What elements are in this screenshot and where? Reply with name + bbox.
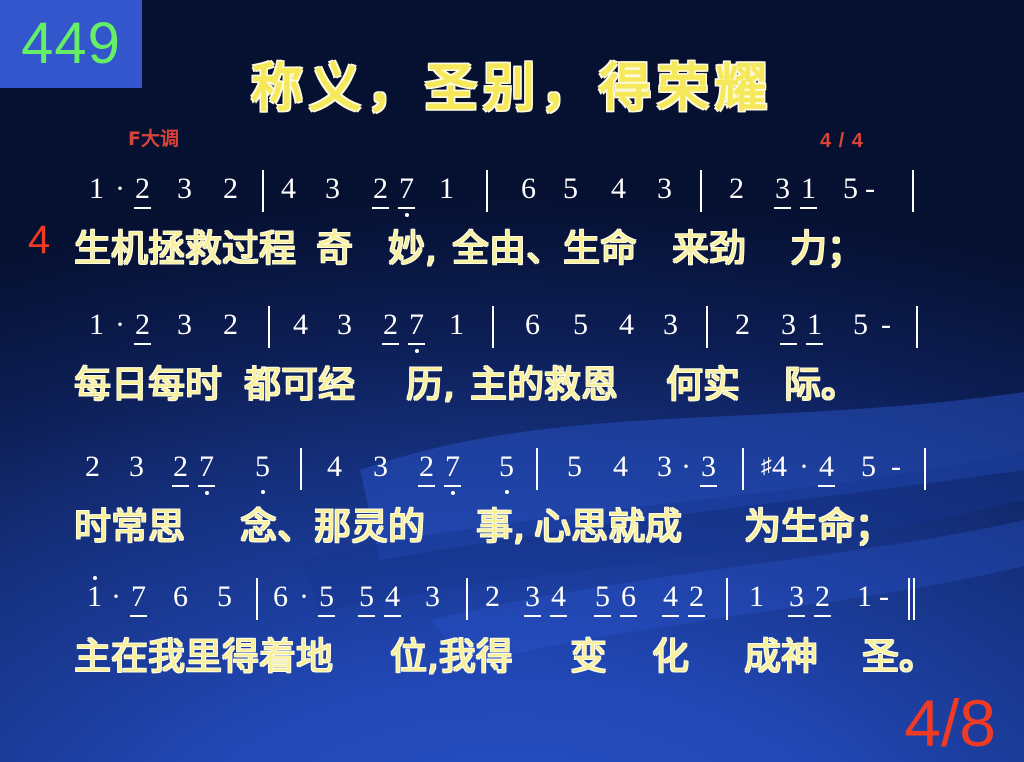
octave-high-dot	[93, 576, 97, 580]
note-token: ·	[298, 580, 310, 614]
note-token: 3	[774, 172, 791, 209]
note-token: 2	[84, 450, 101, 484]
lyric-token: 历,	[406, 354, 455, 408]
note-token: 4	[612, 450, 629, 484]
note-token: 3	[176, 308, 193, 342]
note-token: 1	[86, 580, 103, 614]
lyric-token: 生机拯救过程	[74, 218, 296, 272]
note-token: 5	[254, 450, 271, 484]
note-token: 6	[524, 308, 541, 342]
lyric-token: 力；	[790, 218, 864, 272]
note-token: 6	[520, 172, 537, 206]
note-token: 5	[572, 308, 589, 342]
note-token: 7	[398, 172, 415, 209]
note-token: 3	[424, 580, 441, 614]
lyric-token: 都可经	[244, 354, 355, 408]
note-token: 2	[172, 450, 189, 487]
barline	[924, 448, 926, 490]
note-token: 4	[618, 308, 635, 342]
octave-low-dot	[415, 349, 419, 353]
note-token: 2	[134, 308, 151, 345]
lyric-token: 成神	[744, 626, 818, 680]
note-token: 3	[700, 450, 717, 487]
barline	[536, 448, 538, 490]
note-token: 4	[550, 580, 567, 617]
note-token: ♯4	[760, 450, 788, 484]
barline	[916, 306, 918, 348]
lyric-token: 圣。	[862, 626, 936, 680]
octave-low-dot	[505, 490, 509, 494]
note-token: 7	[444, 450, 461, 487]
lyric-token: 主在我里得着地	[74, 626, 333, 680]
barline	[912, 170, 914, 212]
stanza-4-lyrics: 主在我里得着地位,我得变化成神圣。	[0, 626, 1024, 680]
note-token: -	[864, 172, 876, 206]
barline	[492, 306, 494, 348]
note-token: 5	[860, 450, 877, 484]
stanza-2: 1·2324327165432315-每日每时都可经历,主的救恩何实际。	[0, 308, 1024, 408]
note-token: ·	[114, 308, 126, 342]
note-token: 1	[438, 172, 455, 206]
stanza-3-lyrics: 时常思念、那灵的事,心思就成为生命；	[0, 496, 1024, 550]
note-token: 1	[748, 580, 765, 614]
stanza-4-notation: 1·7656·554323456421321-	[0, 580, 1024, 626]
octave-low-dot	[451, 491, 455, 495]
barline	[706, 306, 708, 348]
note-token: ·	[110, 580, 122, 614]
octave-low-dot	[405, 213, 409, 217]
note-token: 3	[656, 450, 673, 484]
lyric-token: 来劲	[672, 218, 746, 272]
note-token: 7	[130, 580, 147, 617]
note-token: ·	[798, 450, 810, 484]
note-token: 5	[216, 580, 233, 614]
lyric-token: 何实	[666, 354, 740, 408]
note-token: 3	[788, 580, 805, 617]
note-token: 4	[818, 450, 835, 487]
barline	[300, 448, 302, 490]
note-token: 1	[856, 580, 873, 614]
note-token: 2	[372, 172, 389, 209]
lyric-token: 时常思	[74, 496, 185, 550]
note-token: 5	[318, 580, 335, 617]
note-token: 5	[358, 580, 375, 617]
note-token: 7	[198, 450, 215, 487]
note-token: 4	[662, 580, 679, 617]
note-token: 3	[372, 450, 389, 484]
note-token: 2	[382, 308, 399, 345]
barline	[262, 170, 264, 212]
note-token: 4	[326, 450, 343, 484]
stanza-4: 1·7656·554323456421321-主在我里得着地位,我得变化成神圣。	[0, 580, 1024, 680]
note-token: -	[878, 580, 890, 614]
note-token: 3	[336, 308, 353, 342]
lyric-token: 妙,	[388, 218, 437, 272]
note-token: 2	[688, 580, 705, 617]
barline	[726, 578, 728, 620]
barline	[486, 170, 488, 212]
lyric-token: 为生命；	[744, 496, 892, 550]
note-token: 2	[728, 172, 745, 206]
lyric-token: 每日每时	[74, 354, 222, 408]
stanza-2-notation: 1·2324327165432315-	[0, 308, 1024, 354]
barline	[256, 578, 258, 620]
note-token: 3	[662, 308, 679, 342]
lyric-token: 位,我得	[390, 626, 513, 680]
note-token: 5	[852, 308, 869, 342]
lyric-token: 心思就成	[534, 496, 682, 550]
lyric-token: 主的救恩	[470, 354, 618, 408]
hymn-slide: 449 称义，圣别，得荣耀 F大调 4 / 4 1·23243271654323…	[0, 0, 1024, 762]
barline	[700, 170, 702, 212]
lyric-token: 奇	[316, 218, 353, 272]
note-token: 4	[292, 308, 309, 342]
note-token: 5	[594, 580, 611, 617]
note-token: 2	[134, 172, 151, 209]
note-token: 7	[408, 308, 425, 345]
stanza-3: 2327543275543·3♯4·45-时常思念、那灵的事,心思就成为生命；	[0, 450, 1024, 550]
page-title: 称义，圣别，得荣耀	[0, 46, 1024, 121]
note-token: 6	[620, 580, 637, 617]
barline	[466, 578, 468, 620]
note-token: 2	[484, 580, 501, 614]
note-token: 1	[88, 308, 105, 342]
lyric-token: 变	[570, 626, 607, 680]
lyric-token: 际。	[784, 354, 858, 408]
octave-low-dot	[261, 490, 265, 494]
stanza-3-notation: 2327543275543·3♯4·45-	[0, 450, 1024, 496]
time-signature-label: 4 / 4	[820, 130, 864, 153]
stanza-1-lyrics: 4生机拯救过程奇妙,全由、生命来劲力；	[0, 218, 1024, 272]
verse-number: 4	[28, 218, 50, 263]
note-token: 3	[780, 308, 797, 345]
barline	[268, 306, 270, 348]
note-token: 3	[176, 172, 193, 206]
note-token: 2	[814, 580, 831, 617]
stanza-2-lyrics: 每日每时都可经历,主的救恩何实际。	[0, 354, 1024, 408]
note-token: 6	[272, 580, 289, 614]
stanza-1-notation: 1·2324327165432315-	[0, 172, 1024, 218]
note-token: 5	[498, 450, 515, 484]
note-token: 4	[280, 172, 297, 206]
lyric-token: 事,	[476, 496, 525, 550]
note-token: -	[880, 308, 892, 342]
lyric-token: 全由、生命	[452, 218, 637, 272]
double-barline	[908, 578, 917, 620]
note-token: 1	[800, 172, 817, 209]
note-token: 3	[656, 172, 673, 206]
note-token: 1	[448, 308, 465, 342]
barline	[742, 448, 744, 490]
note-token: 6	[172, 580, 189, 614]
key-signature-label: F大调	[128, 124, 179, 151]
note-token: 1	[88, 172, 105, 206]
note-token: ·	[114, 172, 126, 206]
octave-low-dot	[205, 491, 209, 495]
note-token: 4	[384, 580, 401, 617]
note-token: 3	[324, 172, 341, 206]
note-token: 2	[734, 308, 751, 342]
lyric-token: 化	[652, 626, 689, 680]
note-token: 5	[566, 450, 583, 484]
lyric-token: 念、那灵的	[240, 496, 425, 550]
note-token: -	[890, 450, 902, 484]
note-token: 2	[222, 172, 239, 206]
page-indicator: 4/8	[904, 690, 996, 756]
note-token: 2	[418, 450, 435, 487]
note-token: 2	[222, 308, 239, 342]
note-token: 4	[610, 172, 627, 206]
note-token: 5	[842, 172, 859, 206]
note-token: 5	[562, 172, 579, 206]
note-token: 3	[524, 580, 541, 617]
note-token: 1	[806, 308, 823, 345]
note-token: ·	[680, 450, 692, 484]
stanza-1: 1·2324327165432315-4生机拯救过程奇妙,全由、生命来劲力；	[0, 172, 1024, 272]
note-token: 3	[128, 450, 145, 484]
